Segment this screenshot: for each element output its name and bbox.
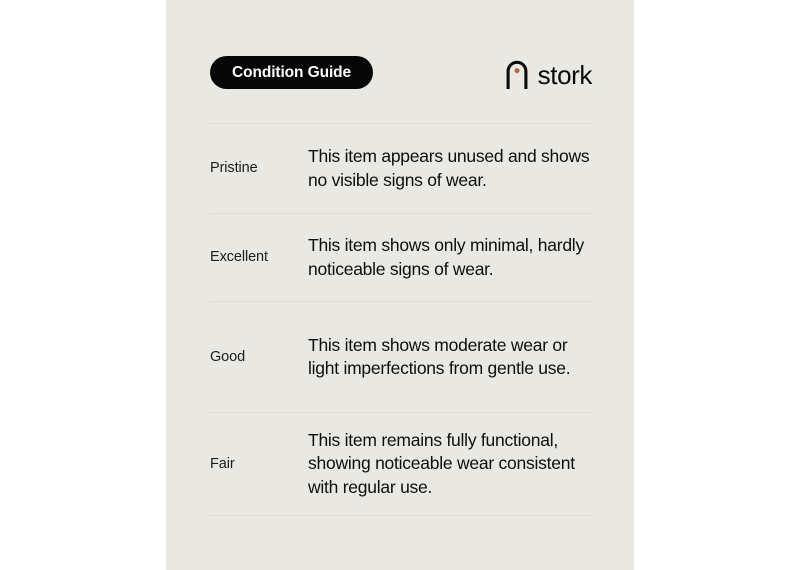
condition-table: Pristine This item appears unused and sh… (210, 123, 592, 516)
condition-term: Pristine (210, 159, 308, 178)
page-root: Condition Guide stork Pristine This item… (0, 0, 800, 570)
card-header: Condition Guide stork (210, 55, 592, 93)
brand-lockup: stork (505, 55, 592, 93)
condition-description: This item appears unused and shows no vi… (308, 145, 592, 191)
condition-guide-card: Condition Guide stork Pristine This item… (166, 0, 634, 570)
condition-term: Fair (210, 455, 308, 474)
condition-term: Excellent (210, 248, 308, 267)
table-row: Pristine This item appears unused and sh… (210, 124, 592, 213)
brand-wordmark: stork (538, 62, 592, 88)
condition-description: This item shows only minimal, hardly not… (308, 234, 592, 280)
table-divider-bottom (210, 515, 592, 516)
stork-arch-logo-icon (505, 59, 529, 89)
condition-description: This item shows moderate wear or light i… (308, 334, 592, 380)
condition-term: Good (210, 348, 308, 367)
table-row: Excellent This item shows only minimal, … (210, 214, 592, 301)
table-row: Fair This item remains fully functional,… (210, 413, 592, 515)
table-row: Good This item shows moderate wear or li… (210, 302, 592, 412)
condition-description: This item remains fully functional, show… (308, 429, 592, 498)
condition-guide-badge: Condition Guide (210, 56, 373, 89)
